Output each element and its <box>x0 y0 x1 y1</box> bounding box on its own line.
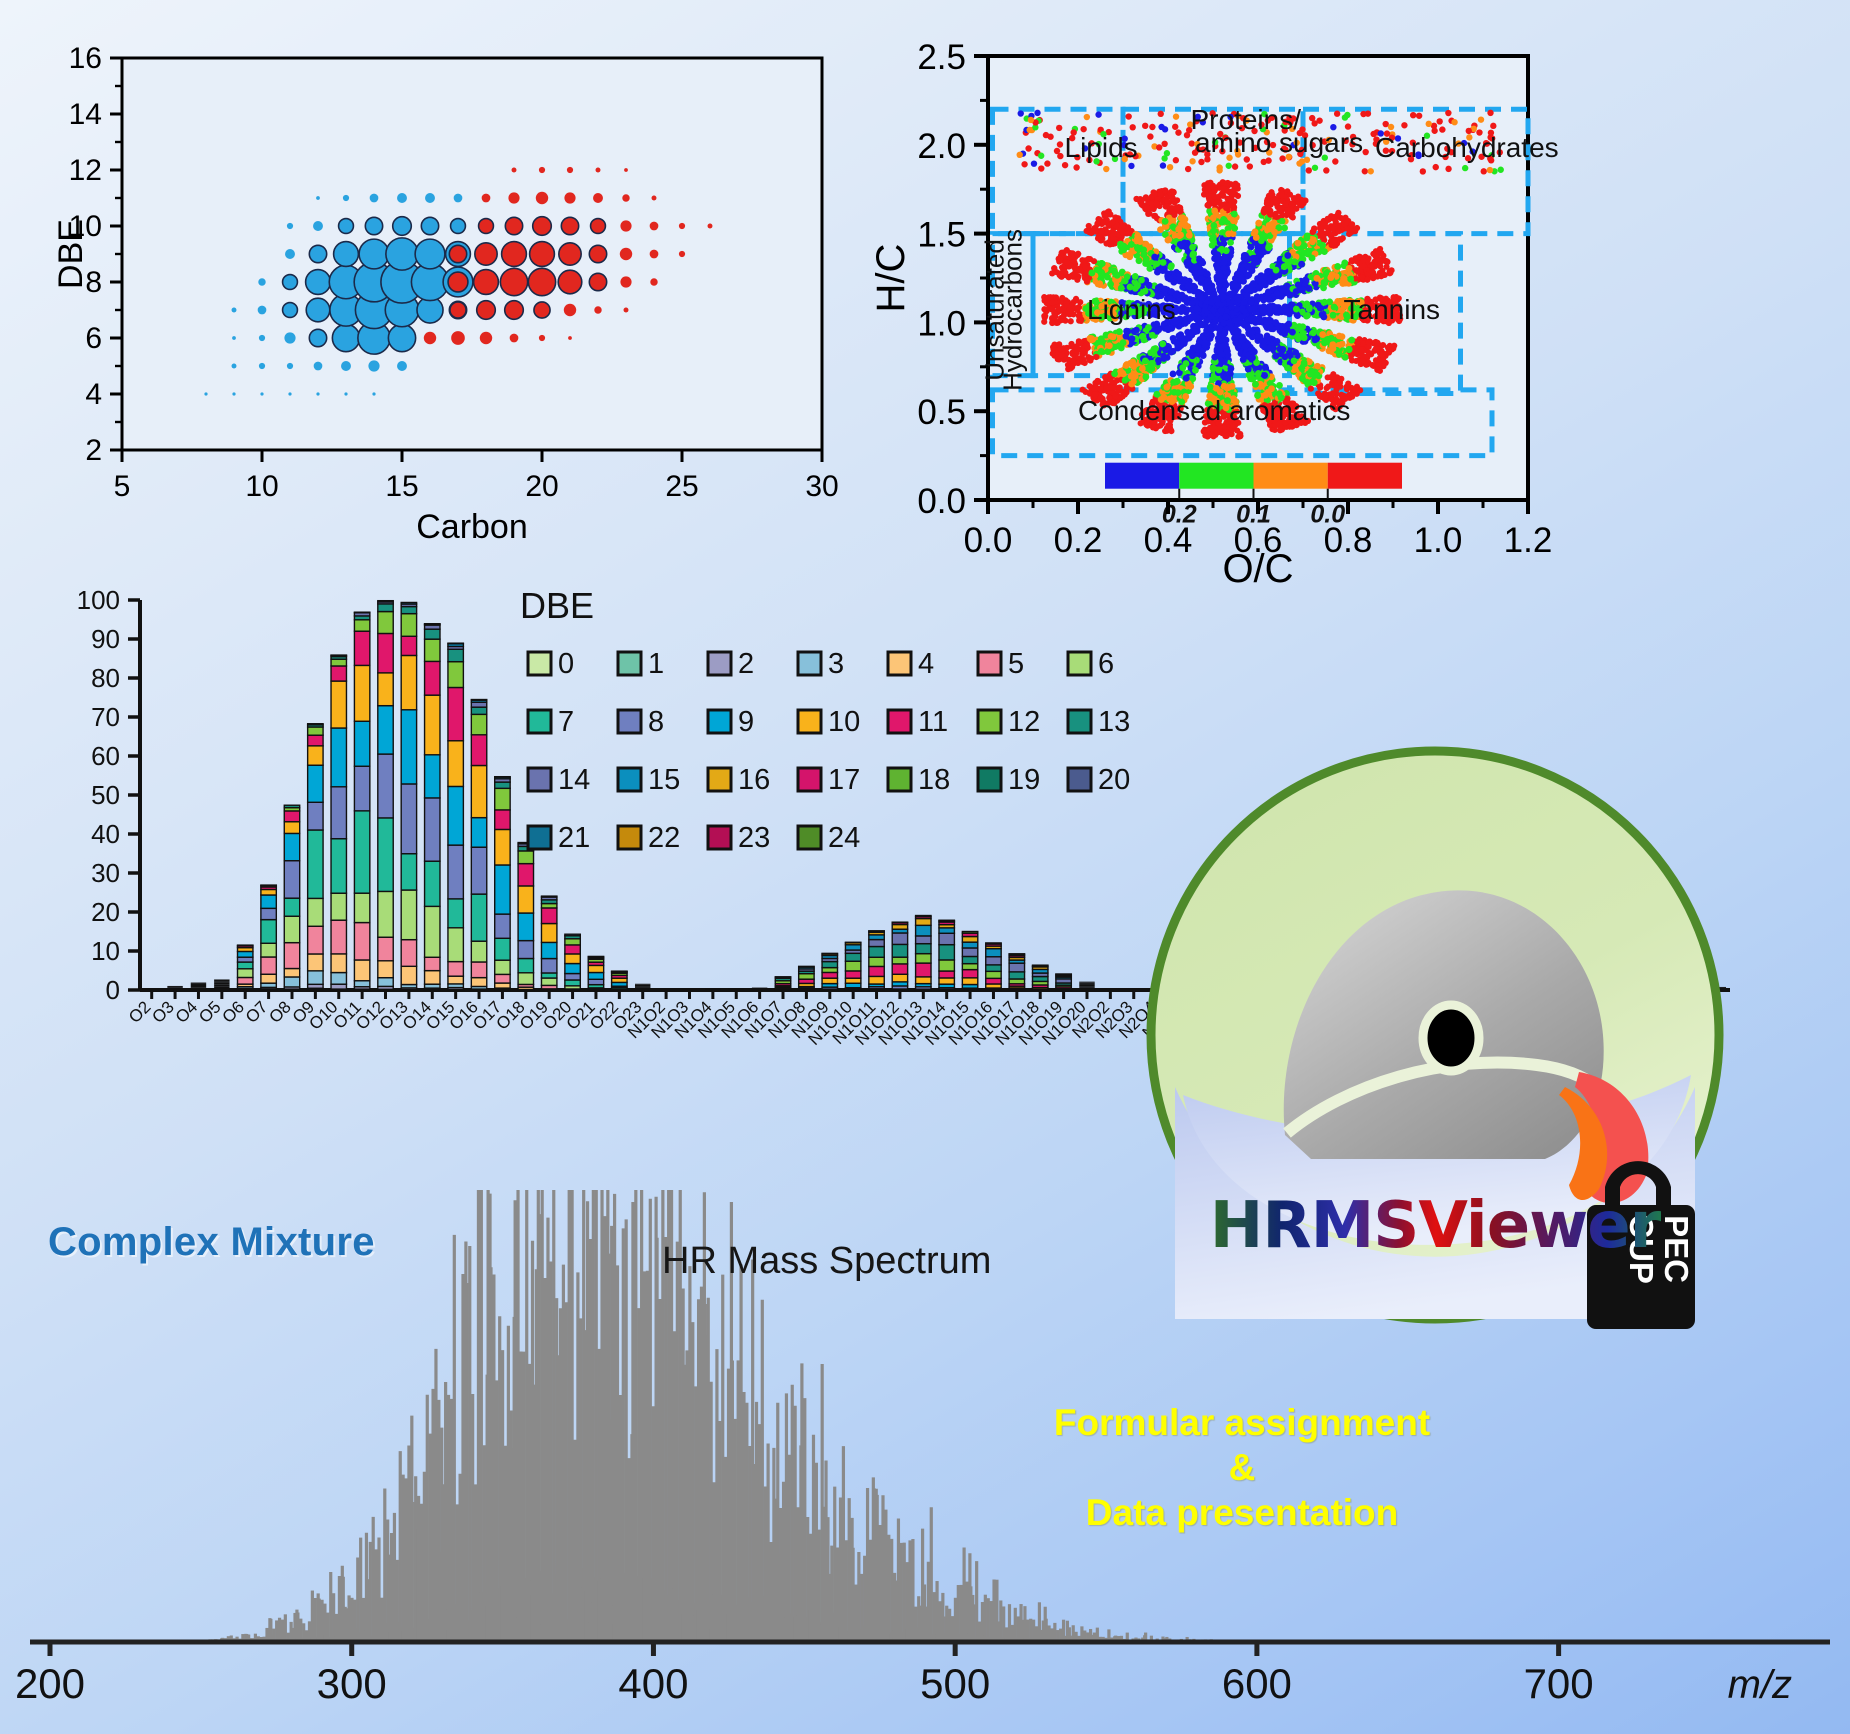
data-point <box>287 223 293 229</box>
data-point <box>1184 283 1191 290</box>
data-point <box>567 167 573 173</box>
data-point <box>1230 217 1237 224</box>
data-point <box>539 335 545 341</box>
data-point <box>1210 237 1217 244</box>
data-point <box>1050 344 1056 350</box>
data-point <box>1261 209 1267 215</box>
data-point <box>1219 219 1226 226</box>
data-point <box>1241 299 1248 306</box>
data-point <box>1082 360 1088 366</box>
data-point <box>1308 386 1314 392</box>
data-point <box>1319 220 1325 226</box>
data-point <box>1260 338 1267 345</box>
data-point <box>1069 364 1075 370</box>
data-point <box>1225 230 1232 237</box>
data-point <box>1160 353 1167 360</box>
data-point <box>475 243 497 265</box>
data-point <box>530 242 555 267</box>
data-point <box>1132 273 1139 280</box>
data-point <box>1068 342 1074 348</box>
data-point <box>539 167 545 173</box>
data-point <box>512 168 517 173</box>
data-point <box>1221 330 1228 337</box>
data-point <box>1147 349 1154 356</box>
data-point <box>533 217 552 236</box>
data-point <box>372 392 375 395</box>
data-point <box>1110 219 1116 225</box>
data-point <box>1162 346 1169 353</box>
data-point <box>1175 343 1182 350</box>
data-point <box>652 196 657 201</box>
data-point <box>283 303 298 318</box>
data-point <box>1214 257 1221 264</box>
data-point <box>424 332 436 344</box>
data-point <box>415 239 445 269</box>
data-point <box>1231 225 1238 232</box>
data-point <box>1106 342 1113 349</box>
y-tick-label: 14 <box>69 98 102 131</box>
data-point <box>1387 270 1393 276</box>
data-point <box>1170 371 1177 378</box>
data-point <box>505 217 522 234</box>
data-point <box>1184 329 1191 336</box>
data-point <box>502 242 527 267</box>
data-point <box>1178 307 1185 314</box>
data-point <box>1346 231 1352 237</box>
data-point <box>1153 200 1159 206</box>
data-point <box>1353 267 1359 273</box>
data-point <box>1095 378 1101 384</box>
data-point <box>1056 258 1062 264</box>
data-point <box>1182 221 1189 228</box>
data-point <box>284 332 295 343</box>
data-point <box>388 324 415 351</box>
data-point <box>620 220 631 231</box>
data-point <box>1107 281 1114 288</box>
data-point <box>589 273 606 290</box>
data-point <box>1327 274 1334 281</box>
data-point <box>421 217 438 234</box>
data-point <box>1354 225 1360 231</box>
data-point <box>1274 338 1281 345</box>
data-point <box>1085 345 1091 351</box>
data-point <box>1330 312 1337 319</box>
data-point <box>1178 243 1185 250</box>
data-point <box>314 362 323 371</box>
data-point <box>477 301 496 320</box>
data-point <box>393 217 412 236</box>
data-point <box>1380 253 1386 259</box>
data-point <box>561 217 578 234</box>
data-point <box>1041 313 1047 319</box>
data-point <box>259 363 265 369</box>
data-point <box>258 306 267 315</box>
data-point <box>1258 272 1265 279</box>
data-point <box>1104 348 1111 355</box>
data-point <box>232 308 237 313</box>
data-point <box>451 331 465 345</box>
data-point <box>1373 345 1379 351</box>
data-point <box>1168 428 1174 434</box>
data-point <box>589 245 606 262</box>
data-point <box>1369 263 1375 269</box>
data-point <box>1235 343 1242 350</box>
data-point <box>1293 206 1299 212</box>
data-point <box>1220 336 1227 343</box>
data-point <box>1168 262 1175 269</box>
data-point <box>1047 294 1053 300</box>
dbe-vs-carbon-plot: 24681012141651015202530 DBE Carbon <box>60 40 850 560</box>
data-point <box>650 250 659 259</box>
data-point <box>650 222 659 231</box>
data-point <box>620 248 632 260</box>
data-point <box>593 193 603 203</box>
data-point <box>1138 277 1145 284</box>
data-point <box>1230 191 1236 197</box>
data-point <box>479 219 494 234</box>
data-point <box>368 360 379 371</box>
data-point <box>1187 383 1194 390</box>
data-point <box>500 268 527 295</box>
data-point <box>1277 427 1283 433</box>
data-point <box>1157 226 1164 233</box>
data-point <box>1207 384 1214 391</box>
data-point <box>232 392 235 395</box>
data-point <box>1254 296 1261 303</box>
data-point <box>1213 385 1220 392</box>
data-point <box>1219 192 1225 198</box>
data-point <box>1096 280 1103 287</box>
data-point <box>564 192 575 203</box>
data-point <box>1179 214 1186 221</box>
data-point <box>1146 282 1153 289</box>
data-point <box>1171 212 1177 218</box>
data-point <box>454 194 463 203</box>
data-point <box>1255 370 1262 377</box>
data-point <box>1220 186 1226 192</box>
data-point <box>370 194 379 203</box>
data-point <box>528 268 555 295</box>
data-point <box>1321 279 1328 286</box>
data-point <box>1353 358 1359 364</box>
data-point <box>474 270 499 295</box>
data-point <box>480 332 492 344</box>
y-tick-label: 4 <box>85 378 102 411</box>
data-point <box>339 219 354 234</box>
data-point <box>1165 237 1172 244</box>
data-point <box>1294 311 1301 318</box>
data-point <box>332 324 359 351</box>
van-krevelen-plot: LipidsProteins/amino sugarsCarbohydrates… <box>860 30 1560 590</box>
data-point <box>425 193 435 203</box>
data-point <box>1187 315 1194 322</box>
data-point <box>1192 367 1199 374</box>
data-point <box>334 242 359 267</box>
data-point <box>1265 295 1272 302</box>
data-point <box>1068 318 1074 324</box>
data-point <box>448 272 468 292</box>
data-point <box>1170 279 1177 286</box>
y-tick-label: 12 <box>69 154 102 187</box>
data-point <box>1183 296 1190 303</box>
data-point <box>259 335 265 341</box>
data-point <box>1298 261 1305 268</box>
data-point <box>1279 218 1286 225</box>
data-point <box>283 275 298 290</box>
data-point <box>568 336 572 340</box>
data-point <box>288 392 291 395</box>
data-point <box>1262 364 1269 371</box>
data-point <box>1324 385 1330 391</box>
data-point <box>451 219 466 234</box>
y-axis-label: DBE <box>52 219 90 289</box>
data-point <box>344 392 347 395</box>
data-point <box>1210 215 1217 222</box>
data-point <box>1332 382 1338 388</box>
data-point <box>708 224 713 229</box>
y-tick-label: 6 <box>85 322 102 355</box>
data-point <box>1188 300 1195 307</box>
data-point <box>1091 258 1097 264</box>
data-point <box>1073 305 1079 311</box>
data-point <box>1058 346 1064 352</box>
data-point <box>450 302 466 318</box>
data-point <box>1205 289 1212 296</box>
data-point <box>1086 223 1092 229</box>
plot-frame <box>122 58 822 450</box>
data-point <box>232 336 236 340</box>
data-point <box>1160 259 1167 266</box>
data-point <box>594 306 601 313</box>
data-point <box>1276 382 1283 389</box>
data-point <box>306 270 331 295</box>
data-point <box>1289 201 1295 207</box>
data-point <box>1104 274 1111 281</box>
data-point <box>1342 354 1349 361</box>
data-point <box>1136 257 1143 264</box>
data-point <box>1373 357 1379 363</box>
data-point <box>1268 385 1275 392</box>
data-point <box>285 249 295 259</box>
data-point <box>558 270 582 294</box>
x-tick-label: 30 <box>805 470 838 503</box>
data-point <box>1206 197 1212 203</box>
data-point <box>1222 313 1229 320</box>
data-point <box>365 217 382 234</box>
panelB-svg: LipidsProteins/amino sugarsCarbohydrates… <box>860 30 1560 590</box>
data-point <box>1380 342 1386 348</box>
data-point <box>1143 374 1150 381</box>
data-point <box>536 192 548 204</box>
data-point <box>1261 343 1268 350</box>
data-point <box>1292 349 1299 356</box>
panelA-svg: 24681012141651015202530 DBE Carbon <box>60 40 850 560</box>
data-point <box>1379 352 1385 358</box>
data-point <box>1131 328 1138 335</box>
data-point <box>1041 319 1047 325</box>
data-point <box>1381 272 1387 278</box>
data-point <box>1098 386 1104 392</box>
data-point <box>1119 370 1126 377</box>
data-point <box>1283 306 1290 313</box>
data-point <box>1204 270 1211 277</box>
data-point <box>1265 289 1272 296</box>
data-point <box>1391 343 1397 349</box>
data-point <box>397 193 407 203</box>
data-point <box>343 195 349 201</box>
data-point <box>204 392 207 395</box>
data-point <box>1128 241 1135 248</box>
data-point <box>1155 284 1162 291</box>
data-point <box>596 168 601 173</box>
data-point <box>232 364 237 369</box>
data-point <box>620 276 631 287</box>
data-point <box>1314 275 1321 282</box>
data-point <box>1313 335 1320 342</box>
data-point <box>1336 333 1343 340</box>
data-point <box>1248 299 1255 306</box>
data-point <box>1174 197 1180 203</box>
data-point <box>1098 335 1105 342</box>
data-point <box>306 298 330 322</box>
data-point <box>1044 308 1050 314</box>
data-point <box>622 194 629 201</box>
data-point <box>1074 277 1080 283</box>
data-point <box>564 304 576 316</box>
data-point <box>1060 268 1066 274</box>
data-point <box>1206 432 1212 438</box>
data-point <box>386 238 418 270</box>
data-point <box>1159 341 1166 348</box>
x-tick-label: 15 <box>385 470 418 503</box>
data-point <box>510 334 519 343</box>
data-point <box>679 223 685 229</box>
data-point <box>1284 365 1291 372</box>
data-point <box>316 392 319 395</box>
data-point <box>359 239 389 269</box>
data-point <box>505 301 524 320</box>
data-point <box>1201 339 1208 346</box>
data-point <box>1332 374 1338 380</box>
x-axis-label: Carbon <box>416 508 528 546</box>
data-point <box>679 251 685 257</box>
data-point <box>1169 348 1176 355</box>
data-point <box>287 363 293 369</box>
data-point <box>1205 203 1211 209</box>
data-point <box>1184 258 1191 265</box>
data-point <box>559 243 581 265</box>
data-point <box>1195 343 1202 350</box>
data-point <box>1352 350 1358 356</box>
x-tick-label: 25 <box>665 470 698 503</box>
data-point <box>1245 366 1252 373</box>
data-point <box>508 192 519 203</box>
data-point <box>1193 305 1200 312</box>
x-tick-label: 20 <box>525 470 558 503</box>
data-point <box>534 302 550 318</box>
data-point <box>1139 365 1146 372</box>
data-point <box>1349 221 1355 227</box>
data-point <box>1328 232 1334 238</box>
data-point <box>1112 231 1118 237</box>
data-point <box>1284 252 1291 259</box>
data-point <box>650 278 657 285</box>
data-point <box>341 361 351 371</box>
y-tick-label: 2 <box>85 434 102 467</box>
data-point <box>1170 189 1176 195</box>
data-point <box>1173 205 1179 211</box>
data-point <box>1114 377 1120 383</box>
data-point <box>1117 384 1123 390</box>
data-point <box>1182 320 1189 327</box>
data-point <box>309 329 326 346</box>
y-tick-label: 16 <box>69 42 102 75</box>
data-point <box>1049 320 1055 326</box>
data-point <box>449 245 466 262</box>
data-point <box>313 221 323 231</box>
data-point <box>1261 372 1268 379</box>
data-point <box>1231 211 1238 218</box>
data-point <box>591 219 606 234</box>
data-point <box>260 392 263 395</box>
x-tick-label: 10 <box>245 470 278 503</box>
data-point <box>1273 214 1279 220</box>
data-point <box>1228 365 1235 372</box>
data-point <box>624 308 629 313</box>
data-point <box>1104 229 1110 235</box>
data-point <box>1364 277 1370 283</box>
data-point <box>1380 363 1386 369</box>
data-point <box>1304 312 1311 319</box>
data-point <box>624 168 628 172</box>
data-point <box>1340 235 1346 241</box>
data-point <box>258 278 265 285</box>
data-point <box>1291 258 1298 265</box>
x-tick-label: 5 <box>114 470 131 503</box>
data-point <box>309 245 326 262</box>
data-point <box>1325 217 1331 223</box>
data-point <box>1265 200 1271 206</box>
data-point <box>1303 235 1310 242</box>
data-point <box>482 194 491 203</box>
data-point <box>1332 214 1338 220</box>
data-point <box>1058 352 1064 358</box>
data-point <box>1214 199 1220 205</box>
data-point <box>1377 263 1383 269</box>
data-point <box>397 361 407 371</box>
data-point <box>316 196 320 200</box>
data-point <box>1277 205 1283 211</box>
